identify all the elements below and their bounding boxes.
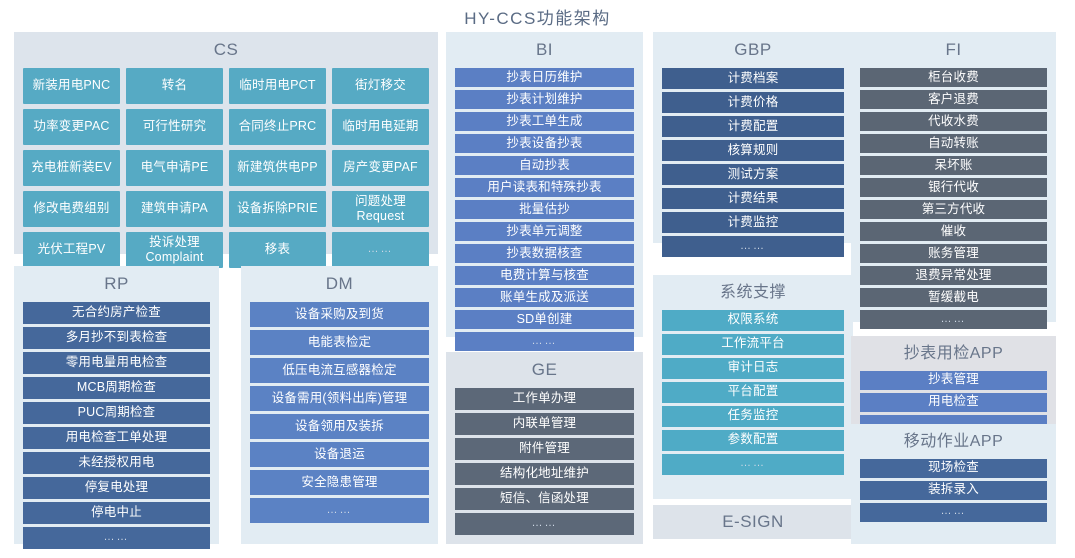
system-support-tile[interactable]: 权限系统	[662, 310, 844, 331]
gbp-tile[interactable]: 计费监控	[662, 212, 844, 233]
cs-tile[interactable]: 充电桩新装EV	[23, 150, 120, 186]
fi-tile[interactable]: 第三方代收	[860, 200, 1047, 219]
fi-tile-list: 柜台收费 客户退费 代收水费 自动转账 呆坏账 银行代收 第三方代收 催收 账务…	[860, 68, 1047, 329]
system-support-tile[interactable]: 参数配置	[662, 430, 844, 451]
bi-tile[interactable]: 抄表设备抄表	[455, 134, 634, 153]
gbp-tile[interactable]: 计费配置	[662, 116, 844, 137]
panel-fi: FI 柜台收费 客户退费 代收水费 自动转账 呆坏账 银行代收 第三方代收 催收…	[851, 32, 1056, 322]
panel-cs-title: CS	[23, 39, 429, 62]
cs-tile[interactable]: 转名	[126, 68, 223, 104]
cs-tile[interactable]: 临时用电延期	[332, 109, 429, 145]
bi-tile[interactable]: 抄表单元调整	[455, 222, 634, 241]
cs-tile-more[interactable]: ……	[332, 232, 429, 268]
fi-tile[interactable]: 柜台收费	[860, 68, 1047, 87]
rp-tile[interactable]: MCB周期检查	[23, 377, 210, 399]
bi-tile[interactable]: 用户读表和特殊抄表	[455, 178, 634, 197]
bi-tile[interactable]: 抄表计划维护	[455, 90, 634, 109]
dm-tile[interactable]: 设备退运	[250, 442, 429, 467]
cs-tile[interactable]: 问题处理 Request	[332, 191, 429, 227]
mobile-operations-app-tile-more[interactable]: ……	[860, 503, 1047, 522]
ge-tile[interactable]: 附件管理	[455, 438, 634, 460]
bi-tile[interactable]: 账单生成及派送	[455, 288, 634, 307]
cs-tile[interactable]: 临时用电PCT	[229, 68, 326, 104]
cs-tile[interactable]: 街灯移交	[332, 68, 429, 104]
panel-mobile-operations-app-title: 移动作业APP	[860, 431, 1047, 453]
system-support-tile[interactable]: 平台配置	[662, 382, 844, 403]
bi-tile[interactable]: 抄表工单生成	[455, 112, 634, 131]
fi-tile[interactable]: 自动转账	[860, 134, 1047, 153]
bi-tile[interactable]: SD单创建	[455, 310, 634, 329]
panel-meter-inspection-app: 抄表用检APP 抄表管理 用电检查 ……	[851, 336, 1056, 432]
cs-tile[interactable]: 功率变更PAC	[23, 109, 120, 145]
fi-tile[interactable]: 催收	[860, 222, 1047, 241]
fi-tile[interactable]: 账务管理	[860, 244, 1047, 263]
panel-rp-title: RP	[23, 273, 210, 296]
rp-tile-more[interactable]: ……	[23, 527, 210, 549]
panel-ge-title: GE	[455, 359, 634, 382]
rp-tile[interactable]: 用电检查工单处理	[23, 427, 210, 449]
gbp-tile[interactable]: 计费档案	[662, 68, 844, 89]
dm-tile[interactable]: 设备领用及装拆	[250, 414, 429, 439]
cs-tile[interactable]: 建筑申请PA	[126, 191, 223, 227]
gbp-tile[interactable]: 计费结果	[662, 188, 844, 209]
rp-tile-list: 无合约房产检查 多月抄不到表检查 零用电量用电检查 MCB周期检查 PUC周期检…	[23, 302, 210, 549]
bi-tile[interactable]: 抄表数据核查	[455, 244, 634, 263]
ge-tile[interactable]: 内联单管理	[455, 413, 634, 435]
cs-tile[interactable]: 设备拆除PRIE	[229, 191, 326, 227]
panel-ge: GE 工作单办理 内联单管理 附件管理 结构化地址维护 短信、信函处理 ……	[446, 352, 643, 544]
rp-tile[interactable]: 多月抄不到表检查	[23, 327, 210, 349]
gbp-tile[interactable]: 核算规则	[662, 140, 844, 161]
panel-bi-title: BI	[455, 39, 634, 62]
mobile-operations-app-tile[interactable]: 装拆录入	[860, 481, 1047, 500]
system-support-tile[interactable]: 审计日志	[662, 358, 844, 379]
fi-tile[interactable]: 暂缓截电	[860, 288, 1047, 307]
bi-tile-more[interactable]: ……	[455, 332, 634, 351]
cs-tile[interactable]: 可行性研究	[126, 109, 223, 145]
meter-inspection-app-tile[interactable]: 抄表管理	[860, 371, 1047, 390]
panel-fi-title: FI	[860, 39, 1047, 62]
panel-meter-inspection-app-title: 抄表用检APP	[860, 343, 1047, 365]
cs-tile[interactable]: 修改电费组别	[23, 191, 120, 227]
rp-tile[interactable]: 停复电处理	[23, 477, 210, 499]
cs-tile[interactable]: 房产变更PAF	[332, 150, 429, 186]
panel-gbp-title: GBP	[662, 39, 844, 62]
cs-tile[interactable]: 光伏工程PV	[23, 232, 120, 268]
page-title: HY-CCS功能架构	[0, 4, 1075, 29]
fi-tile-more[interactable]: ……	[860, 310, 1047, 329]
ge-tile[interactable]: 短信、信函处理	[455, 488, 634, 510]
ge-tile-more[interactable]: ……	[455, 513, 634, 535]
panel-cs: CS 新装用电PNC 转名 临时用电PCT 街灯移交 功率变更PAC 可行性研究…	[14, 32, 438, 254]
dm-tile[interactable]: 低压电流互感器检定	[250, 358, 429, 383]
fi-tile[interactable]: 代收水费	[860, 112, 1047, 131]
panel-system-support: 系统支撑 权限系统 工作流平台 审计日志 平台配置 任务监控 参数配置 ……	[653, 275, 853, 499]
panel-esign-title: E-SIGN	[722, 511, 784, 534]
bi-tile[interactable]: 自动抄表	[455, 156, 634, 175]
cs-tile[interactable]: 移表	[229, 232, 326, 268]
bi-tile[interactable]: 抄表日历维护	[455, 68, 634, 87]
gbp-tile[interactable]: 测试方案	[662, 164, 844, 185]
dm-tile[interactable]: 安全隐患管理	[250, 470, 429, 495]
cs-tile[interactable]: 新建筑供电PP	[229, 150, 326, 186]
ge-tile[interactable]: 结构化地址维护	[455, 463, 634, 485]
system-support-tile[interactable]: 工作流平台	[662, 334, 844, 355]
bi-tile[interactable]: 批量估抄	[455, 200, 634, 219]
dm-tile[interactable]: 电能表检定	[250, 330, 429, 355]
system-support-tile-list: 权限系统 工作流平台 审计日志 平台配置 任务监控 参数配置 ……	[662, 310, 844, 475]
mobile-operations-app-tile[interactable]: 现场检查	[860, 459, 1047, 478]
dm-tile[interactable]: 设备采购及到货	[250, 302, 429, 327]
fi-tile[interactable]: 退费异常处理	[860, 266, 1047, 285]
cs-tile-grid: 新装用电PNC 转名 临时用电PCT 街灯移交 功率变更PAC 可行性研究 合同…	[23, 68, 429, 268]
panel-rp: RP 无合约房产检查 多月抄不到表检查 零用电量用电检查 MCB周期检查 PUC…	[14, 266, 219, 544]
system-support-tile[interactable]: 任务监控	[662, 406, 844, 427]
bi-tile-list: 抄表日历维护 抄表计划维护 抄表工单生成 抄表设备抄表 自动抄表 用户读表和特殊…	[455, 68, 634, 351]
dm-tile[interactable]: 设备需用(领料出库)管理	[250, 386, 429, 411]
gbp-tile-more[interactable]: ……	[662, 236, 844, 257]
panel-bi: BI 抄表日历维护 抄表计划维护 抄表工单生成 抄表设备抄表 自动抄表 用户读表…	[446, 32, 643, 337]
cs-tile[interactable]: 电气申请PE	[126, 150, 223, 186]
fi-tile[interactable]: 呆坏账	[860, 156, 1047, 175]
rp-tile[interactable]: 零用电量用电检查	[23, 352, 210, 374]
panel-system-support-title: 系统支撑	[662, 282, 844, 304]
gbp-tile[interactable]: 计费价格	[662, 92, 844, 113]
ge-tile-list: 工作单办理 内联单管理 附件管理 结构化地址维护 短信、信函处理 ……	[455, 388, 634, 535]
panel-dm: DM 设备采购及到货 电能表检定 低压电流互感器检定 设备需用(领料出库)管理 …	[241, 266, 438, 544]
dm-tile-list: 设备采购及到货 电能表检定 低压电流互感器检定 设备需用(领料出库)管理 设备领…	[250, 302, 429, 523]
gbp-tile-list: 计费档案 计费价格 计费配置 核算规则 测试方案 计费结果 计费监控 ……	[662, 68, 844, 257]
fi-tile[interactable]: 银行代收	[860, 178, 1047, 197]
dm-tile-more[interactable]: ……	[250, 498, 429, 523]
rp-tile[interactable]: 无合约房产检查	[23, 302, 210, 324]
panel-mobile-operations-app: 移动作业APP 现场检查 装拆录入 ……	[851, 424, 1056, 544]
mobile-operations-app-tile-list: 现场检查 装拆录入 ……	[860, 459, 1047, 522]
meter-inspection-app-tile[interactable]: 用电检查	[860, 393, 1047, 412]
rp-tile[interactable]: PUC周期检查	[23, 402, 210, 424]
panel-gbp: GBP 计费档案 计费价格 计费配置 核算规则 测试方案 计费结果 计费监控 ……	[653, 32, 853, 243]
cs-tile[interactable]: 投诉处理 Complaint	[126, 232, 223, 268]
rp-tile[interactable]: 停电中止	[23, 502, 210, 524]
system-support-tile-more[interactable]: ……	[662, 454, 844, 475]
ge-tile[interactable]: 工作单办理	[455, 388, 634, 410]
panel-esign: E-SIGN	[653, 505, 853, 539]
cs-tile[interactable]: 合同终止PRC	[229, 109, 326, 145]
rp-tile[interactable]: 未经授权用电	[23, 452, 210, 474]
cs-tile[interactable]: 新装用电PNC	[23, 68, 120, 104]
fi-tile[interactable]: 客户退费	[860, 90, 1047, 109]
panel-dm-title: DM	[250, 273, 429, 296]
bi-tile[interactable]: 电费计算与核查	[455, 266, 634, 285]
